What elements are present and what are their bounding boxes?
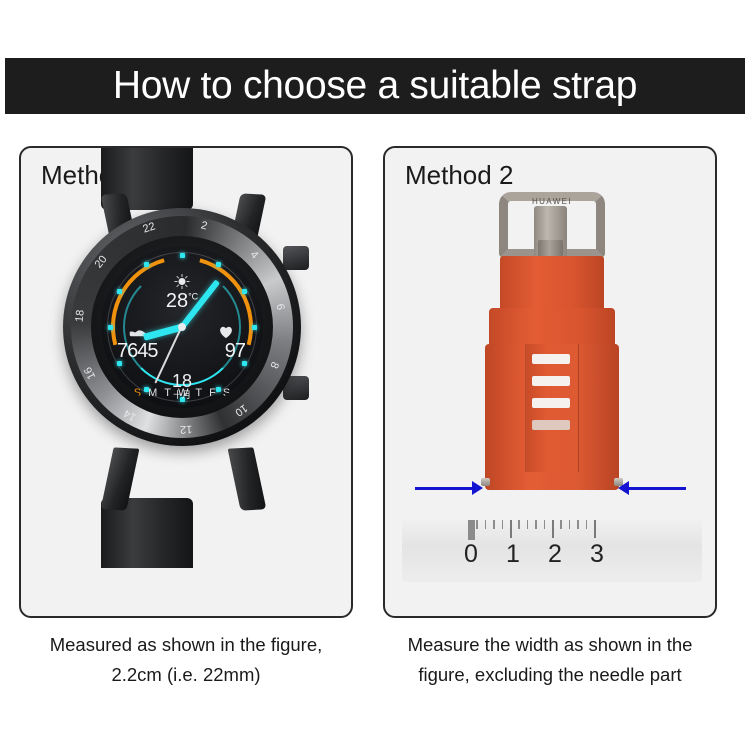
dial-marker-1 <box>216 262 221 267</box>
ruler-tick-3 <box>493 520 495 529</box>
dial-marker-3 <box>252 325 257 330</box>
heart-icon <box>219 326 233 339</box>
ruler-tick-14 <box>586 520 588 529</box>
watch-lug-bottom-right <box>228 447 267 510</box>
weekday-row: SMTWTFS <box>101 387 263 399</box>
temperature-value: 28 <box>166 290 188 312</box>
ruler-tick-12 <box>569 520 571 529</box>
method-2-panel: Method 2 HUAWEI 0123 <box>383 146 717 618</box>
ruler-tick-6 <box>518 520 520 529</box>
temperature-unit: °C <box>188 291 198 301</box>
weekday-2: T <box>164 387 171 399</box>
ruler-tick-4 <box>502 520 504 529</box>
weekday-5: F <box>209 387 216 399</box>
caption-line-2: figure, excluding the needle part <box>380 660 720 690</box>
ruler-tick-9 <box>544 520 546 529</box>
strap-hole-2 <box>532 376 570 386</box>
page-title: How to choose a suitable strap <box>113 64 637 108</box>
smartwatch-illustration: 246810121416182022 28°C 7645 <box>21 148 351 616</box>
sun-icon <box>175 274 190 289</box>
bezel-number-12: 12 <box>180 423 193 435</box>
ruler-tick-8 <box>535 520 537 529</box>
ruler-method-2: 0123 <box>402 520 702 582</box>
caption-method-1: Measured as shown in the figure, 2.2cm (… <box>16 630 356 690</box>
sun-ray-3 <box>185 284 188 287</box>
ruler-tick-13 <box>577 520 579 529</box>
heart-rate-value: 97 <box>225 340 245 363</box>
ruler-tick-zero <box>468 520 475 540</box>
watch-dial: 28°C 7645 97 18 十月 SMTWTFS <box>101 246 263 408</box>
weekday-4: T <box>195 387 202 399</box>
arrow-head-inward-left <box>472 481 483 495</box>
ruler-tick-10 <box>552 520 554 538</box>
ruler-label-2: 2 <box>548 540 562 569</box>
ruler-tick-15 <box>594 520 596 538</box>
ruler-label-1: 1 <box>506 540 520 569</box>
watch-case: 246810121416182022 28°C 7645 <box>63 208 301 446</box>
dial-marker-11 <box>144 262 149 267</box>
strap-upper-segment <box>500 256 604 312</box>
ruler-tick-7 <box>527 520 529 529</box>
bezel-number-18: 18 <box>73 309 86 322</box>
sun-ray-4 <box>182 286 183 289</box>
dial-marker-0 <box>180 253 185 258</box>
arrow-shaft-right <box>628 487 686 490</box>
sun-ray-0 <box>182 274 183 277</box>
step-count: 7645 <box>117 340 158 363</box>
strap-hole-1 <box>532 354 570 364</box>
dial-marker-2 <box>242 289 247 294</box>
sun-ray-7 <box>176 276 179 279</box>
sun-ray-6 <box>175 281 178 282</box>
ruler-label-0: 0 <box>464 540 478 569</box>
weekday-0: S <box>134 387 141 399</box>
product-infographic: How to choose a suitable strap Method 1 … <box>0 0 750 750</box>
buckle-brand-text: HUAWEI <box>499 197 605 206</box>
sun-ray-5 <box>176 284 179 287</box>
sun-ray-2 <box>187 281 190 282</box>
caption-line-1: Measure the width as shown in the <box>380 630 720 660</box>
dial-marker-9 <box>108 325 113 330</box>
header-banner: How to choose a suitable strap <box>5 58 745 114</box>
method-1-panel: Method 1 246810121416182022 <box>19 146 353 618</box>
caption-line-1: Measured as shown in the figure, <box>16 630 356 660</box>
sun-ray-1 <box>185 276 188 279</box>
hands-pivot <box>178 323 186 331</box>
strap-hole-4 <box>532 420 570 430</box>
caption-line-2: 2.2cm (i.e. 22mm) <box>16 660 356 690</box>
weekday-1: M <box>148 387 157 399</box>
weekday-3: W <box>178 387 188 399</box>
watch-crown-upper <box>283 246 309 270</box>
ruler-tick-2 <box>485 520 487 529</box>
ruler-tick-1 <box>476 520 478 529</box>
arrow-shaft-left <box>415 487 473 490</box>
weekday-6: S <box>223 387 230 399</box>
strap-hole-3 <box>532 398 570 408</box>
caption-method-2: Measure the width as shown in the figure… <box>380 630 720 690</box>
dial-marker-10 <box>117 289 122 294</box>
ruler-tick-11 <box>560 520 562 529</box>
ruler-label-3: 3 <box>590 540 604 569</box>
ruler-tick-5 <box>510 520 512 538</box>
